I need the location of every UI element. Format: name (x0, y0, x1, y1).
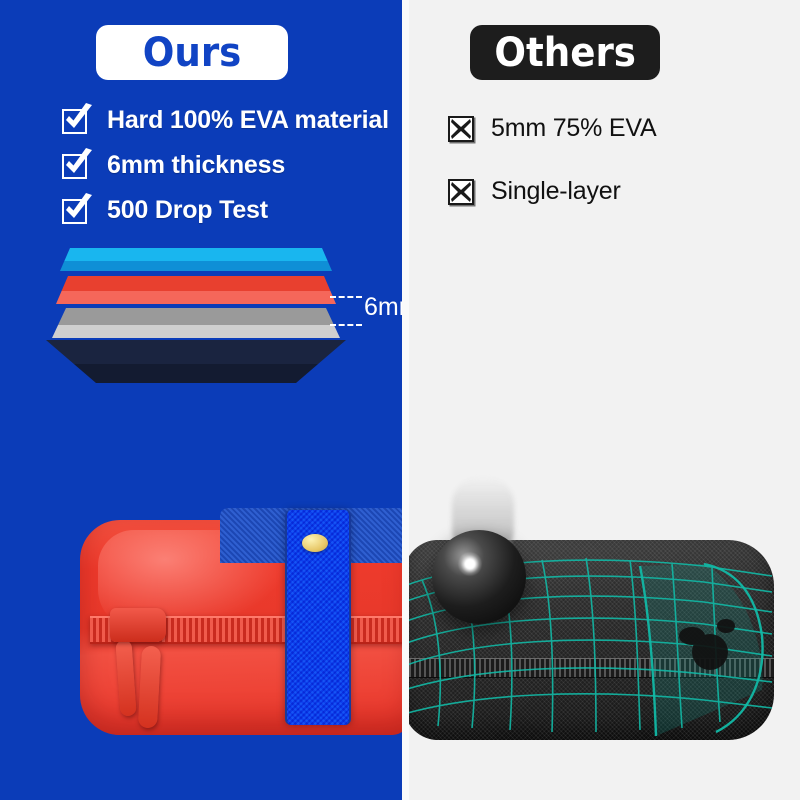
feature-row: 500 Drop Test (62, 194, 392, 227)
checkmark-icon (62, 151, 92, 181)
feature-label: 5mm 75% EVA (491, 114, 656, 143)
feature-list-others: 5mm 75% EVA Single-layer (448, 112, 778, 238)
feature-label: 6mm thickness (107, 151, 285, 180)
feature-row: 5mm 75% EVA (448, 112, 778, 145)
feature-row: Single-layer (448, 175, 778, 208)
cross-icon (448, 115, 476, 143)
badge-others: Others (470, 25, 660, 80)
badge-ours-label: Ours (143, 30, 242, 76)
stack-layer-outer-shell-cyan (60, 248, 332, 271)
feature-row: 6mm thickness (62, 149, 392, 182)
red-eva-case-photo (80, 520, 404, 735)
stack-layer-eva-core-red (56, 276, 336, 304)
layer-stack-ours (46, 248, 346, 383)
badge-others-label: Others (494, 30, 636, 76)
feature-label: Hard 100% EVA material (107, 106, 389, 135)
thickness-gauge-label: 6mm (364, 293, 404, 322)
stack-layer-measured-gray (52, 308, 340, 338)
feature-label: Single-layer (491, 177, 621, 206)
snap-button (302, 534, 328, 552)
panel-ours: Ours Hard 100% EVA material (0, 0, 404, 800)
ball-specular-highlight (458, 552, 482, 576)
thickness-gauge-ours: 6mm (330, 296, 404, 330)
feature-list-ours: Hard 100% EVA material 6mm thickness (62, 104, 392, 239)
feature-row: Hard 100% EVA material (62, 104, 392, 137)
steel-ball-icon (432, 530, 526, 624)
comparison-infographic: Ours Hard 100% EVA material (0, 0, 800, 800)
stack-layer-inner-lining-navy (46, 340, 346, 383)
cross-icon (448, 178, 476, 206)
panel-divider (402, 0, 409, 800)
checkmark-icon (62, 196, 92, 226)
zipper-slider (110, 608, 166, 642)
checkmark-icon (62, 106, 92, 136)
badge-ours: Ours (96, 25, 288, 80)
feature-label: 500 Drop Test (107, 196, 268, 225)
